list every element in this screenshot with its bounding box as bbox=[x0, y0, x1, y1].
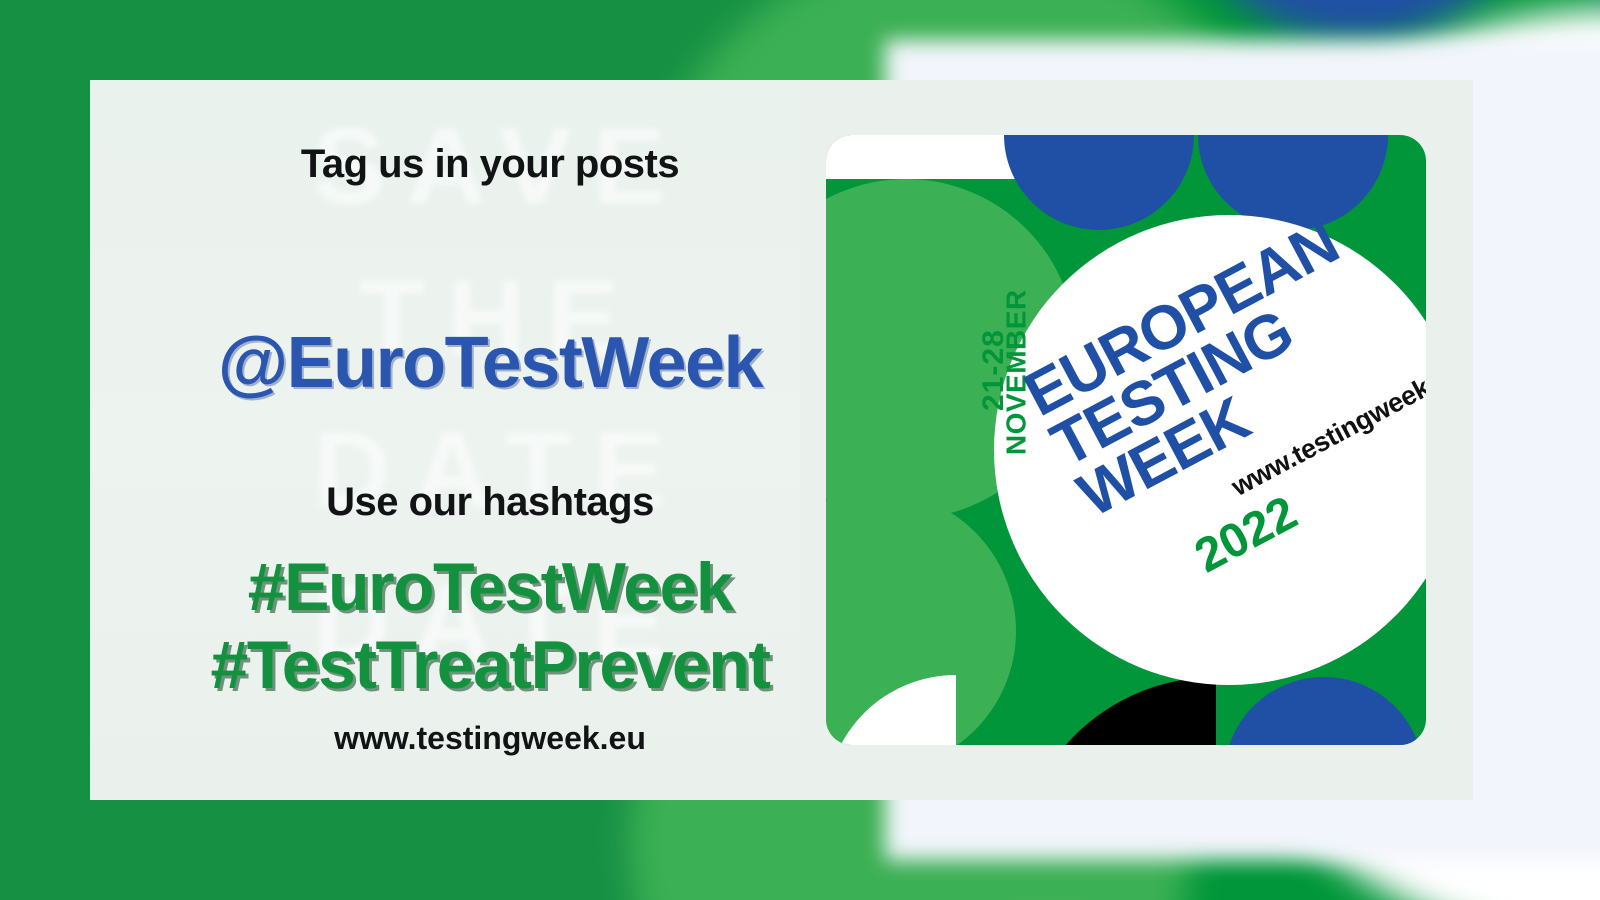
logo-blue-half-circle-left bbox=[1004, 135, 1194, 230]
hashtag-testtreatprevent[interactable]: #TestTreatPrevent bbox=[90, 626, 890, 704]
logo-top-white-block bbox=[826, 135, 1021, 179]
logo-title: EUROPEAN TESTING WEEK bbox=[1016, 213, 1400, 525]
logo-blue-half-circle-bottom bbox=[1224, 677, 1424, 745]
social-handle[interactable]: @EuroTestWeek bbox=[90, 322, 890, 404]
poster-canvas: EUROPEANTESTINGWEEK www.testingweek.eu 2… bbox=[0, 0, 1600, 900]
promo-text-column: Tag us in your posts @EuroTestWeek Use o… bbox=[90, 80, 890, 800]
hashtag-prompt: Use our hashtags bbox=[90, 480, 890, 525]
hashtag-eurotestweek[interactable]: #EuroTestWeek bbox=[90, 548, 890, 626]
logo-black-quarter-circle bbox=[1016, 677, 1216, 745]
content-panel: SAVE THE DATE DATE Tag us in your posts … bbox=[90, 80, 1473, 800]
etw-logo-card[interactable]: 21-28 NOVEMBER EUROPEAN TESTING WEEK www… bbox=[826, 135, 1426, 745]
tag-us-prompt: Tag us in your posts bbox=[90, 142, 890, 187]
website-url[interactable]: www.testingweek.eu bbox=[90, 720, 890, 757]
